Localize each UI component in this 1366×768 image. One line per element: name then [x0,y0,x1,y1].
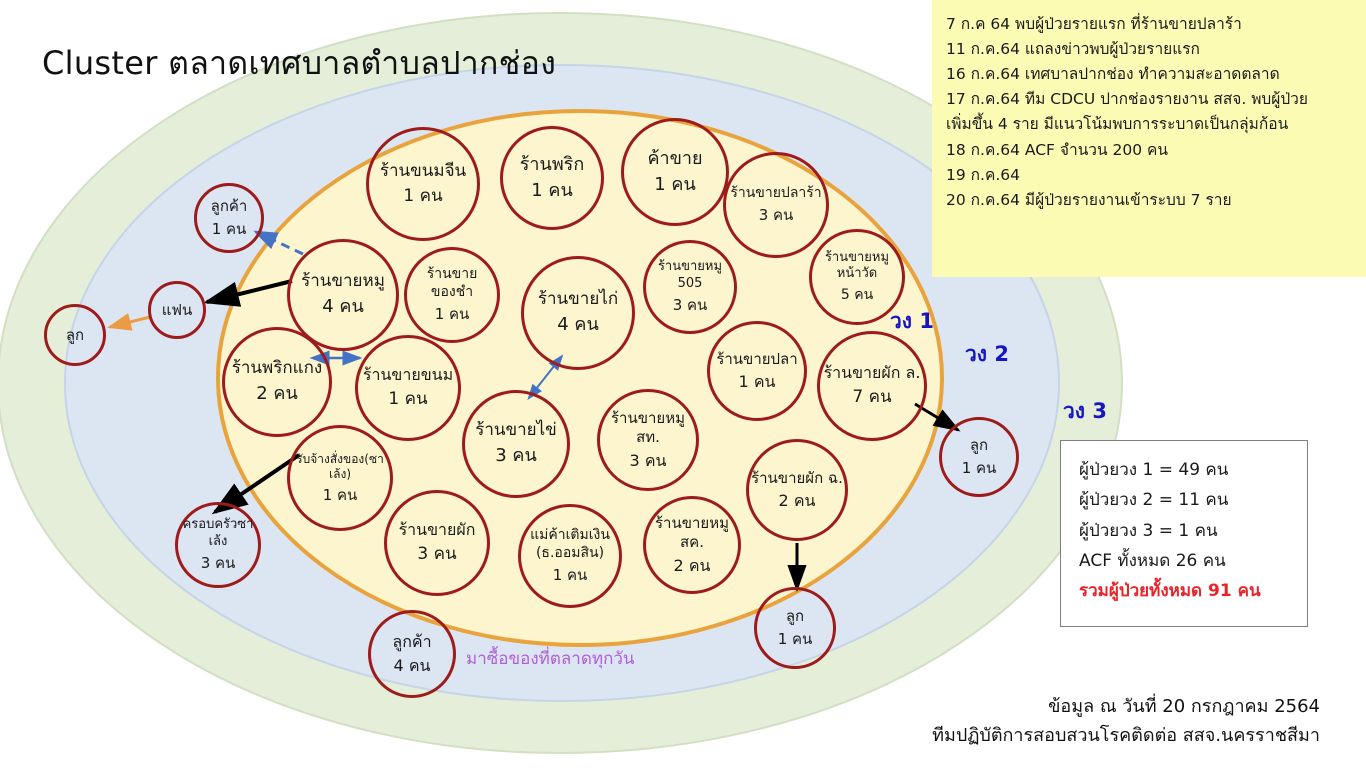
footer-data-date: ข้อมูล ณ วันที่ 20 กรกฎาคม 2564 [932,692,1320,721]
node-count: 2 คน [256,383,298,406]
node-label: ร้านขายหมู สท. [600,409,696,447]
node-khanom[interactable]: ร้านขายขนม1 คน [355,335,461,441]
ring-label-1: วง 1 [890,305,934,338]
node-label: ร้านขายไก่ [538,289,618,310]
node-luk-kha-top[interactable]: ลูกค้า1 คน [194,183,264,253]
timeline-line: 17 ก.ค.64 ทีม CDCU ปากช่องรายงาน สสจ. พบ… [946,87,1356,112]
node-count: 1 คน [388,389,427,410]
node-label: ร้านขายหมู [301,271,385,292]
node-label: ร้านขายขนม [363,365,453,385]
summary-box: ผู้ป่วยวง 1 = 49 คนผู้ป่วยวง 2 = 11 คนผู… [1060,440,1308,627]
node-label: ร้านพริก [520,154,585,177]
summary-line: ผู้ป่วยวง 3 = 1 คน [1079,516,1307,546]
node-khai[interactable]: ร้านขายไข่3 คน [462,390,570,498]
node-label: ร้านขายผัก ล. [824,363,921,383]
node-count: 1 คน [654,174,696,197]
node-count: 1 คน [553,566,588,585]
node-label: ร้านขายปลา [716,350,797,369]
node-luk-left[interactable]: ลูก [44,304,106,366]
node-luk-kha-bot[interactable]: ลูกค้า4 คน [368,610,456,698]
node-count: 5 คน [841,287,873,305]
node-kai[interactable]: ร้านขายไก่4 คน [521,256,635,370]
node-label: ค้าขาย [647,148,702,171]
timeline-line: 7 ก.ค 64 พบผู้ป่วยรายแรก ที่ร้านขายปลาร้… [946,12,1356,37]
node-khropkhrua[interactable]: ครอบครัวซาเล้ง3 คน [175,502,261,588]
node-khanom-chin[interactable]: ร้านขนมจีน1 คน [366,127,480,241]
node-count: 1 คน [531,180,573,203]
node-label: ร้านขายหมู สค. [646,514,738,552]
node-kha-khai[interactable]: ค้าขาย1 คน [621,118,729,226]
node-label: ลูก [66,326,84,345]
node-count: 3 คน [201,554,236,573]
node-count: 1 คน [962,459,997,478]
timeline-line: 19 ก.ค.64 [946,163,1356,188]
node-label: ร้านขายผัก ฉ. [751,469,843,488]
node-pla-ra[interactable]: ร้านขายปลาร้า3 คน [723,152,829,258]
node-label: ร้านพริกแกง [232,358,322,379]
timeline-box: 7 ก.ค 64 พบผู้ป่วยรายแรก ที่ร้านขายปลาร้… [932,0,1366,277]
node-prik-kaeng[interactable]: ร้านพริกแกง2 คน [222,327,332,437]
buy-at-market-note: มาซื้อของที่ตลาดทุกวัน [466,645,635,672]
node-label: ลูกค้า [211,197,248,216]
page-title: Cluster ตลาดเทศบาลตำบลปากช่อง [42,38,556,89]
node-label: ร้านขายผัก [399,520,476,540]
node-label: ร้านขนมจีน [380,161,466,182]
node-mae-kha[interactable]: แม่ค้าเติมเงิน (ธ.ออมสิน)1 คน [518,504,622,608]
summary-line: ผู้ป่วยวง 2 = 11 คน [1079,485,1307,515]
summary-total: รวมผู้ป่วยทั้งหมด 91 คน [1079,576,1307,606]
node-pla[interactable]: ร้านขายปลา1 คน [707,321,807,421]
node-khong-cham[interactable]: ร้านขายของชำ1 คน [404,247,500,343]
node-count: 7 คน [852,387,891,408]
timeline-line: 11 ก.ค.64 แถลงข่าวพบผู้ป่วยรายแรก [946,37,1356,62]
node-count: 3 คน [417,544,456,565]
ring-label-3: วง 3 [1063,395,1107,428]
node-count: 3 คน [759,206,794,225]
timeline-line: 18 ก.ค.64 ACF จำนวน 200 คน [946,138,1356,163]
timeline-line: 16 ก.ค.64 เทศบาลปากช่อง ทำความสะอาดตลาด [946,62,1356,87]
node-count: 3 คน [630,451,667,471]
node-label: รับจ้างสั่งของ(ซาเล้ง) [290,452,390,482]
node-label: ลูก [786,607,804,626]
summary-line: ผู้ป่วยวง 1 = 49 คน [1079,455,1307,485]
timeline-line: 20 ก.ค.64 มีผู้ป่วยรายงานเข้าระบบ 7 ราย [946,188,1356,213]
node-faen[interactable]: แฟน [148,281,206,339]
node-label: ร้านขายหมู 505 [646,259,734,292]
node-luk-r2[interactable]: ลูก1 คน [754,587,836,669]
summary-line: ACF ทั้งหมด 26 คน [1079,546,1307,576]
node-count: 4 คน [557,314,599,337]
node-label: แม่ค้าเติมเงิน (ธ.ออมสิน) [521,527,619,562]
node-count: 3 คน [495,445,537,468]
node-label: ร้านขายไข่ [475,420,557,441]
node-moo-sth[interactable]: ร้านขายหมู สท.3 คน [597,389,699,491]
node-rap-jang[interactable]: รับจ้างสั่งของ(ซาเล้ง)1 คน [287,425,393,531]
node-count: 1 คน [403,186,442,207]
footer: ข้อมูล ณ วันที่ 20 กรกฎาคม 2564 ทีมปฏิบั… [932,692,1320,750]
footer-team: ทีมปฏิบัติการสอบสวนโรคติดต่อ สสจ.นครราชส… [932,721,1320,750]
node-count: 1 คน [323,486,358,505]
node-label: แฟน [162,301,193,320]
diagram-canvas: Cluster ตลาดเทศบาลตำบลปากช่อง ร้านขนมจีน… [0,0,1366,768]
node-count: 3 คน [673,296,708,315]
node-count: 2 คน [674,556,711,576]
node-label: ลูก [970,436,988,455]
node-count: 1 คน [212,220,247,239]
node-count: 2 คน [779,491,816,511]
node-count: 1 คน [739,372,776,392]
node-luk-r3[interactable]: ลูก1 คน [939,417,1019,497]
node-label: ร้านขายหมู หน้าวัด [812,250,902,283]
node-prik[interactable]: ร้านพริก1 คน [500,126,604,230]
node-moo-sk[interactable]: ร้านขายหมู สค.2 คน [643,496,741,594]
node-count: 4 คน [322,296,364,319]
ring-label-2: วง 2 [965,338,1009,371]
node-label: ร้านขายปลาร้า [730,185,821,203]
timeline-line: เพิ่มขึ้น 4 ราย มีแนวโน้มพบการระบาดเป็นก… [946,112,1356,137]
node-label: ครอบครัวซาเล้ง [178,517,258,550]
node-count: 1 คน [435,305,470,324]
node-count: 4 คน [394,656,431,676]
node-label: ลูกค้า [392,632,431,652]
node-count: 1 คน [778,630,813,649]
node-phak-cho[interactable]: ร้านขายผัก ฉ.2 คน [746,439,848,541]
node-moo-505[interactable]: ร้านขายหมู 5053 คน [643,240,737,334]
node-label: ร้านขายของชำ [407,266,497,301]
node-phak[interactable]: ร้านขายผัก3 คน [384,490,490,596]
node-phak-lo[interactable]: ร้านขายผัก ล.7 คน [817,331,927,441]
